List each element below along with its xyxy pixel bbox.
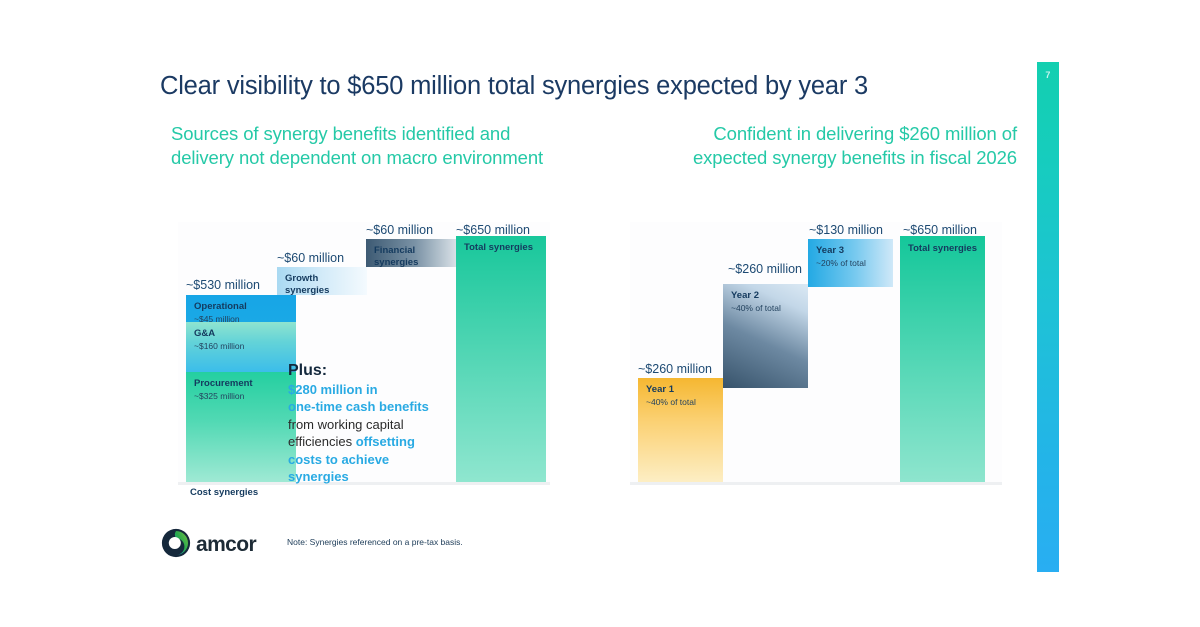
bar-label-financial-synergies: Financial synergies xyxy=(374,245,451,267)
left-bar-3-caption: ~$60 million xyxy=(366,223,433,237)
left-bar-segment-ga: G&A ~$160 million xyxy=(186,322,296,372)
bar-label-growth-synergies: Growth synergies xyxy=(285,273,362,295)
plus-line-4-highlight: offsetting xyxy=(356,434,415,449)
plus-line-2: one-time cash benefits xyxy=(288,399,429,414)
page-number-rail xyxy=(1037,62,1059,572)
right-bar-year-2: Year 2 ~40% of total xyxy=(723,284,808,388)
plus-line-3: from working capital xyxy=(288,417,404,432)
slide: 7 Clear visibility to $650 million total… xyxy=(0,0,1200,627)
bar-label-year-2: Year 2 ~40% of total xyxy=(731,290,803,313)
left-bar-financial-synergies: Financial synergies xyxy=(366,239,456,267)
right-bar-year-1: Year 1 ~40% of total xyxy=(638,378,723,482)
right-bar-3-caption: ~$130 million xyxy=(809,223,883,237)
left-chart-axis-note: Cost synergies xyxy=(190,487,258,498)
left-bar-2-caption: ~$60 million xyxy=(277,251,344,265)
plus-line-5: costs to achieve xyxy=(288,452,389,467)
bar-label-right-total: Total synergies xyxy=(908,242,980,255)
plus-line-4: efficiencies xyxy=(288,434,356,449)
plus-line-1: $280 million in xyxy=(288,382,378,397)
right-bar-2-caption: ~$260 million xyxy=(728,262,802,276)
plus-line-6: synergies xyxy=(288,469,349,484)
left-bar-segment-procurement: Procurement ~$325 million xyxy=(186,372,296,482)
amcor-logo-icon xyxy=(161,528,191,558)
bar-label-total-synergies: Total synergies xyxy=(464,242,541,254)
right-bar-4-caption: ~$650 million xyxy=(903,223,977,237)
footnote: Note: Synergies referenced on a pre-tax … xyxy=(287,537,463,547)
left-bar-4-caption: ~$650 million xyxy=(456,223,530,237)
left-bar-1-caption: ~$530 million xyxy=(186,278,260,292)
bar-label-year-3: Year 3 ~20% of total xyxy=(816,245,888,268)
right-bar-year-3: Year 3 ~20% of total xyxy=(808,239,893,287)
plus-callout: Plus: $280 million in one-time cash bene… xyxy=(288,362,448,486)
page-number: 7 xyxy=(1037,70,1059,80)
plus-heading: Plus: xyxy=(288,362,448,380)
subtitle-left: Sources of synergy benefits identified a… xyxy=(171,122,551,170)
subtitle-right: Confident in delivering $260 million of … xyxy=(637,122,1017,170)
left-bar-segment-operational: Operational ~$45 million xyxy=(186,295,296,322)
page-title: Clear visibility to $650 million total s… xyxy=(160,72,1020,101)
left-bar-total-synergies: Total synergies xyxy=(456,236,546,482)
right-bar-1-caption: ~$260 million xyxy=(638,362,712,376)
right-chart-baseline xyxy=(630,482,1002,485)
segment-label-procurement: Procurement ~$325 million xyxy=(194,378,291,401)
right-bar-total-synergies: Total synergies xyxy=(900,236,985,482)
segment-label-ga: G&A ~$160 million xyxy=(194,328,291,351)
bar-label-year-1: Year 1 ~40% of total xyxy=(646,384,718,407)
segment-label-operational: Operational ~$45 million xyxy=(194,301,291,322)
amcor-wordmark: amcor xyxy=(196,533,256,557)
left-bar-growth-synergies: Growth synergies xyxy=(277,267,367,295)
